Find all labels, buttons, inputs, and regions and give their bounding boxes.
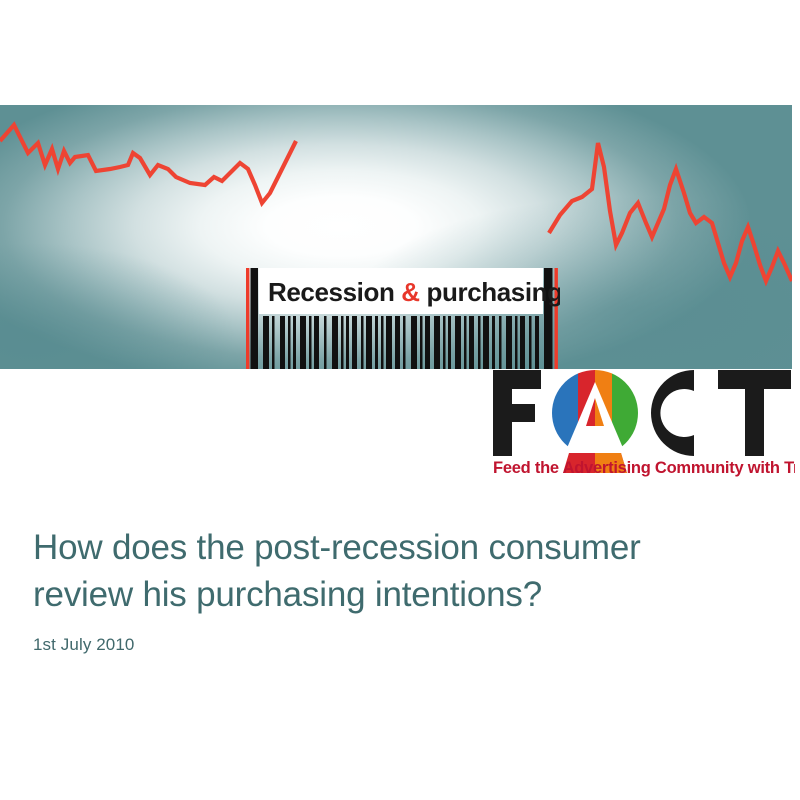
logo-letter-t: [718, 370, 791, 456]
logo-letter-f: [493, 370, 541, 456]
title-block: How does the post-recession consumer rev…: [33, 524, 763, 655]
trendline-left-segment: [0, 125, 296, 203]
logo-letter-a: [552, 370, 638, 473]
barcode-bars: [263, 316, 539, 369]
trendline-right-segment: [549, 143, 792, 281]
barcode-left-red-rule: [246, 268, 249, 369]
fact-logo: Feed the Advertising Community with Tren…: [489, 366, 795, 478]
recession-banner: Recession & purchasing intention: [0, 105, 792, 369]
slide-date: 1st July 2010: [33, 618, 763, 655]
barcode-graphic: Recession & purchasing intention: [244, 268, 560, 369]
logo-tagline: Feed the Advertising Community with Tren…: [493, 459, 795, 477]
logo-letter-c: [651, 370, 694, 456]
barcode-caption: Recession & purchasing intention: [268, 277, 560, 307]
page-title: How does the post-recession consumer rev…: [33, 524, 763, 618]
barcode-left-guard: [251, 268, 259, 369]
